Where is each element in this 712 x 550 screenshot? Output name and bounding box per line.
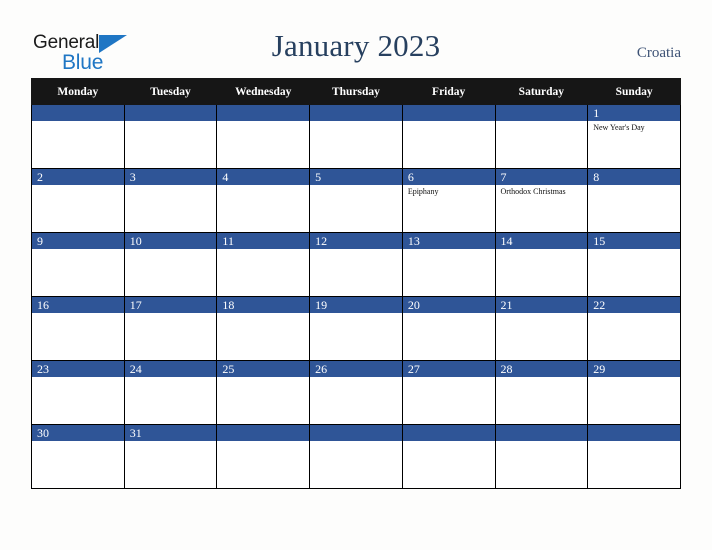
day-number: 17 <box>125 297 217 313</box>
day-number: 16 <box>32 297 124 313</box>
day-events <box>217 249 309 251</box>
calendar-grid: Monday Tuesday Wednesday Thursday Friday… <box>31 78 681 489</box>
day-number: 8 <box>588 169 680 185</box>
calendar-week-row: 3031 <box>32 425 681 489</box>
holiday-label: Epiphany <box>408 187 491 197</box>
day-events <box>310 249 402 251</box>
calendar-day-cell[interactable] <box>124 105 217 169</box>
calendar-week-row: 9101112131415 <box>32 233 681 297</box>
calendar-day-cell[interactable]: 28 <box>495 361 588 425</box>
day-events <box>32 121 124 123</box>
calendar-day-cell[interactable]: 22 <box>588 297 681 361</box>
calendar-day-cell[interactable]: 26 <box>310 361 403 425</box>
day-number <box>588 425 680 441</box>
day-number: 12 <box>310 233 402 249</box>
day-events <box>496 313 588 315</box>
day-events <box>496 249 588 251</box>
weekday-header-sunday: Sunday <box>588 79 681 105</box>
day-events <box>217 313 309 315</box>
day-number: 6 <box>403 169 495 185</box>
day-events <box>403 249 495 251</box>
calendar-day-cell[interactable]: 9 <box>32 233 125 297</box>
day-events <box>403 441 495 443</box>
weekday-header-wednesday: Wednesday <box>217 79 310 105</box>
calendar-day-cell[interactable] <box>310 425 403 489</box>
weekday-header-monday: Monday <box>32 79 125 105</box>
calendar-week-row: 23242526272829 <box>32 361 681 425</box>
calendar-day-cell[interactable]: 17 <box>124 297 217 361</box>
calendar-day-cell[interactable]: 10 <box>124 233 217 297</box>
holiday-label: New Year's Day <box>593 123 676 133</box>
weekday-header-friday: Friday <box>402 79 495 105</box>
calendar-week-row: 16171819202122 <box>32 297 681 361</box>
day-events <box>588 377 680 379</box>
day-number: 28 <box>496 361 588 377</box>
day-events <box>217 441 309 443</box>
day-number: 2 <box>32 169 124 185</box>
day-events <box>125 377 217 379</box>
day-events <box>310 121 402 123</box>
day-events: New Year's Day <box>588 121 680 133</box>
day-events <box>588 185 680 187</box>
day-number: 7 <box>496 169 588 185</box>
calendar-day-cell[interactable]: 8 <box>588 169 681 233</box>
calendar-day-cell[interactable]: 6Epiphany <box>402 169 495 233</box>
day-number <box>403 105 495 121</box>
day-number: 15 <box>588 233 680 249</box>
calendar-day-cell[interactable]: 18 <box>217 297 310 361</box>
day-number: 22 <box>588 297 680 313</box>
day-number: 27 <box>403 361 495 377</box>
day-number <box>32 105 124 121</box>
day-events: Epiphany <box>403 185 495 197</box>
calendar-day-cell[interactable] <box>310 105 403 169</box>
day-events <box>588 249 680 251</box>
day-events <box>217 377 309 379</box>
holiday-label: Orthodox Christmas <box>501 187 584 197</box>
calendar-day-cell[interactable] <box>588 425 681 489</box>
day-events <box>32 441 124 443</box>
day-number: 1 <box>588 105 680 121</box>
day-number: 20 <box>403 297 495 313</box>
day-number: 9 <box>32 233 124 249</box>
day-number: 13 <box>403 233 495 249</box>
calendar-day-cell[interactable]: 21 <box>495 297 588 361</box>
day-events <box>125 121 217 123</box>
calendar-day-cell[interactable]: 4 <box>217 169 310 233</box>
day-number: 3 <box>125 169 217 185</box>
day-number <box>496 105 588 121</box>
day-number: 21 <box>496 297 588 313</box>
day-events <box>310 377 402 379</box>
calendar-day-cell[interactable]: 29 <box>588 361 681 425</box>
day-number: 29 <box>588 361 680 377</box>
day-events <box>403 121 495 123</box>
day-events <box>588 313 680 315</box>
day-events <box>310 441 402 443</box>
day-number: 5 <box>310 169 402 185</box>
calendar-day-cell[interactable]: 15 <box>588 233 681 297</box>
page-title: January 2023 <box>0 28 712 64</box>
weekday-header-tuesday: Tuesday <box>124 79 217 105</box>
day-events <box>32 249 124 251</box>
calendar-day-cell[interactable] <box>217 105 310 169</box>
day-number: 10 <box>125 233 217 249</box>
weekday-header-thursday: Thursday <box>310 79 403 105</box>
calendar-day-cell[interactable]: 1New Year's Day <box>588 105 681 169</box>
day-events <box>403 313 495 315</box>
day-number <box>310 425 402 441</box>
day-number: 19 <box>310 297 402 313</box>
calendar-day-cell[interactable] <box>32 105 125 169</box>
calendar-day-cell[interactable] <box>495 425 588 489</box>
day-number <box>217 105 309 121</box>
day-events <box>217 121 309 123</box>
day-number: 31 <box>125 425 217 441</box>
calendar-day-cell[interactable]: 25 <box>217 361 310 425</box>
calendar-day-cell[interactable]: 14 <box>495 233 588 297</box>
day-events <box>125 249 217 251</box>
day-events <box>310 185 402 187</box>
calendar-day-cell[interactable]: 20 <box>402 297 495 361</box>
day-number: 26 <box>310 361 402 377</box>
calendar-day-cell[interactable]: 19 <box>310 297 403 361</box>
calendar-day-cell[interactable]: 3 <box>124 169 217 233</box>
weekday-header-row: Monday Tuesday Wednesday Thursday Friday… <box>32 79 681 105</box>
day-events <box>310 313 402 315</box>
day-number: 14 <box>496 233 588 249</box>
day-number <box>403 425 495 441</box>
day-number: 11 <box>217 233 309 249</box>
day-events: Orthodox Christmas <box>496 185 588 197</box>
calendar-day-cell[interactable]: 5 <box>310 169 403 233</box>
calendar-day-cell[interactable]: 11 <box>217 233 310 297</box>
day-events <box>32 313 124 315</box>
calendar-day-cell[interactable]: 7Orthodox Christmas <box>495 169 588 233</box>
day-number: 30 <box>32 425 124 441</box>
calendar-day-cell[interactable] <box>402 425 495 489</box>
calendar-day-cell[interactable] <box>402 105 495 169</box>
day-number: 24 <box>125 361 217 377</box>
calendar-day-cell[interactable]: 13 <box>402 233 495 297</box>
day-number: 23 <box>32 361 124 377</box>
calendar-day-cell[interactable] <box>217 425 310 489</box>
calendar-day-cell[interactable]: 2 <box>32 169 125 233</box>
calendar-day-cell[interactable]: 16 <box>32 297 125 361</box>
country-label: Croatia <box>637 45 681 62</box>
day-events <box>125 313 217 315</box>
calendar-day-cell[interactable]: 12 <box>310 233 403 297</box>
weekday-header-saturday: Saturday <box>495 79 588 105</box>
day-number: 25 <box>217 361 309 377</box>
day-number: 18 <box>217 297 309 313</box>
calendar-day-cell[interactable]: 27 <box>402 361 495 425</box>
calendar-day-cell[interactable]: 31 <box>124 425 217 489</box>
day-number <box>217 425 309 441</box>
calendar-body: 1New Year's Day23456Epiphany7Orthodox Ch… <box>32 105 681 489</box>
day-events <box>403 377 495 379</box>
day-events <box>125 185 217 187</box>
calendar-week-row: 1New Year's Day <box>32 105 681 169</box>
day-number <box>310 105 402 121</box>
day-events <box>496 377 588 379</box>
day-number <box>496 425 588 441</box>
day-events <box>588 441 680 443</box>
page-header: General Blue January 2023 Croatia <box>0 0 712 78</box>
calendar-day-cell[interactable]: 24 <box>124 361 217 425</box>
calendar-day-cell[interactable]: 23 <box>32 361 125 425</box>
day-events <box>496 121 588 123</box>
day-number: 4 <box>217 169 309 185</box>
calendar-week-row: 23456Epiphany7Orthodox Christmas8 <box>32 169 681 233</box>
day-events <box>217 185 309 187</box>
day-events <box>32 185 124 187</box>
day-events <box>496 441 588 443</box>
day-events <box>32 377 124 379</box>
day-number <box>125 105 217 121</box>
day-events <box>125 441 217 443</box>
calendar-day-cell[interactable] <box>495 105 588 169</box>
calendar-day-cell[interactable]: 30 <box>32 425 125 489</box>
